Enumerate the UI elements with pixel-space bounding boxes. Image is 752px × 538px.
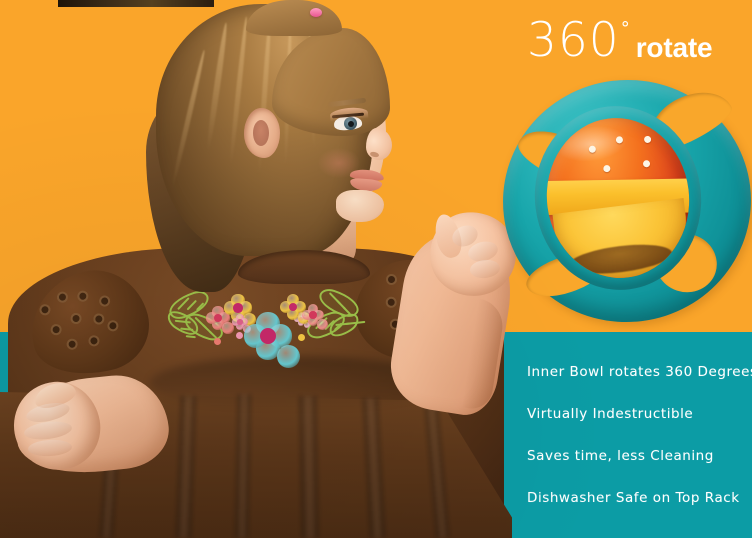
eyelet-hole: [384, 295, 398, 309]
ear-inner: [253, 120, 269, 146]
pupil: [348, 121, 354, 127]
leaf-vein: [186, 335, 196, 338]
eyelet-hole: [56, 290, 69, 303]
flower-center: [214, 314, 222, 322]
leaf-vein: [180, 327, 193, 330]
eyelet-hole: [98, 294, 111, 307]
vent-dot: [643, 160, 651, 168]
leaf-vein: [196, 302, 204, 310]
flower-motif: [244, 312, 292, 360]
chin: [336, 190, 384, 222]
skirt-fold: [235, 394, 252, 538]
eyelet-hole: [385, 273, 399, 287]
eyelet-hole: [65, 338, 78, 351]
eyelet-hole: [69, 312, 82, 325]
gyro-bowl-product: [503, 78, 751, 330]
eyelet-hole: [106, 319, 119, 332]
headline: 360 ° rotate: [527, 18, 712, 64]
vent-dot: [603, 165, 611, 173]
feature-list: Inner Bowl rotates 360 DegreesVirtually …: [527, 364, 752, 532]
eyelet-hole: [92, 312, 105, 325]
toddler-girl-photo: [0, 0, 520, 538]
headline-number: 360: [527, 18, 620, 64]
headline-word: rotate: [636, 34, 713, 62]
bead-motif: [236, 332, 243, 339]
hair-tie: [310, 8, 322, 17]
feature-line: Saves time, less Cleaning: [527, 448, 752, 490]
flower-motif: [302, 304, 324, 326]
eyelet-hole: [87, 334, 100, 347]
bead-motif: [298, 334, 305, 341]
flower-center: [233, 303, 243, 313]
skirt-fold: [299, 396, 319, 538]
degree-symbol-icon: °: [621, 20, 630, 38]
flower-petal: [277, 345, 300, 368]
eyelet-hole: [38, 303, 51, 316]
product-banner: 360 ° rotate Inner Bowl rotates 360 Degr…: [0, 0, 752, 538]
flower-center: [309, 311, 316, 318]
dress-embroidery: [166, 284, 362, 366]
bead-motif: [214, 338, 221, 345]
center-flower: [244, 312, 292, 360]
vent-dot: [644, 136, 652, 144]
flower-petal: [317, 319, 328, 330]
eyelet-hole: [49, 323, 62, 336]
feature-line: Dishwasher Safe on Top Rack: [527, 490, 752, 532]
leaf-vein: [175, 320, 191, 323]
eyelet-hole: [76, 290, 89, 303]
feature-line: Inner Bowl rotates 360 Degrees: [527, 364, 752, 406]
flower-center: [237, 319, 242, 324]
feature-line: Virtually Indestructible: [527, 406, 752, 448]
